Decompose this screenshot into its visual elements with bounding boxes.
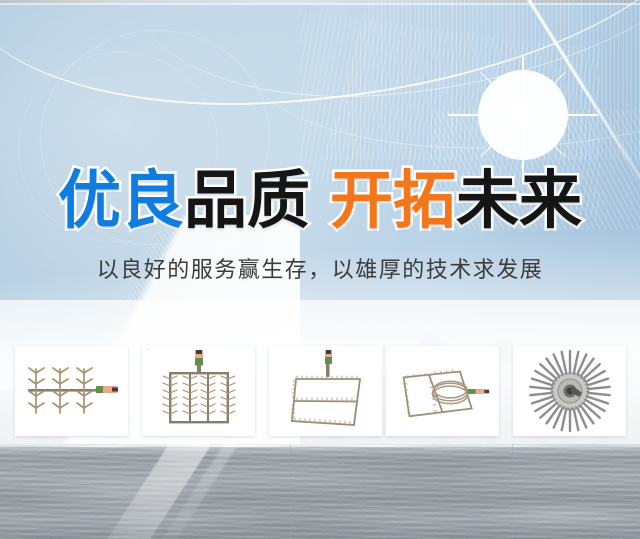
headline-part-dark-2: 未来 <box>456 164 582 237</box>
product-card-1[interactable] <box>15 346 128 436</box>
subtitle: 以良好的服务赢生存，以雄厚的技术求发展 <box>0 255 640 287</box>
promo-banner: 优良品质开拓未来 以良好的服务赢生存，以雄厚的技术求发展 <box>0 0 640 539</box>
product-thumb-2 <box>146 350 251 432</box>
ground-surface <box>0 444 640 539</box>
headline-part-dark-1: 品质 <box>184 164 310 237</box>
rack-radial-star-icon <box>522 349 618 433</box>
product-card-3[interactable] <box>269 346 382 436</box>
ground-shading <box>0 444 640 539</box>
product-card-5[interactable] <box>513 346 626 436</box>
product-card-2[interactable] <box>142 346 255 436</box>
rack-comb-horizontal-icon <box>20 351 124 431</box>
rack-flat-ring-frame-icon <box>390 351 495 431</box>
ground-seam-2 <box>512 444 513 539</box>
product-card-4[interactable] <box>386 346 499 436</box>
product-thumb-1 <box>19 350 124 432</box>
headline-part-blue: 优良 <box>58 164 184 237</box>
product-thumb-5 <box>517 350 622 432</box>
product-thumb-4 <box>390 350 495 432</box>
headline: 优良品质开拓未来 <box>0 166 640 236</box>
product-thumb-3 <box>273 350 378 432</box>
ground-seam-1 <box>290 444 291 539</box>
rack-ladder-frame-icon <box>274 349 378 433</box>
headline-part-orange: 开拓 <box>330 164 456 237</box>
rack-double-comb-frame-icon <box>147 349 251 433</box>
product-card-row <box>0 346 640 438</box>
top-edge-highlight <box>0 3 640 5</box>
